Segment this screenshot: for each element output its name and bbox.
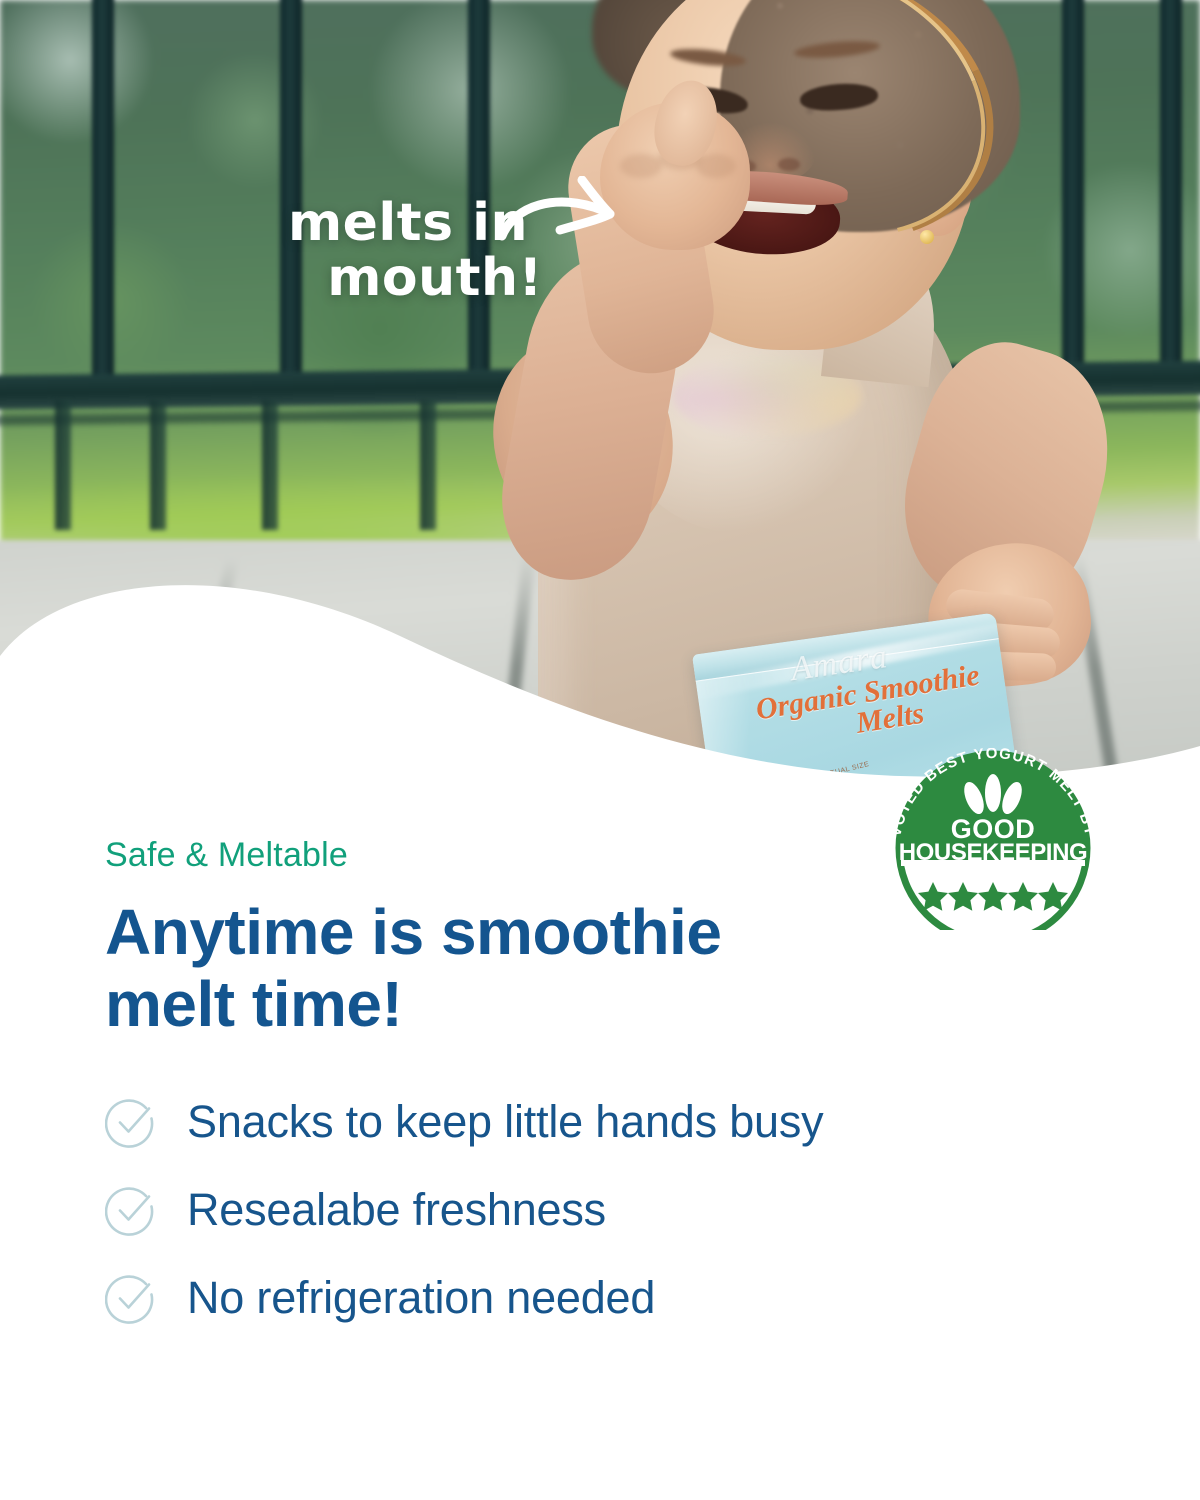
- headline-line-1: Anytime is smoothie: [105, 896, 721, 968]
- hero-photo: Amara Organic Smoothie Melts ACTUAL SIZE…: [0, 0, 1200, 830]
- headline-line-2: melt time!: [105, 969, 935, 1041]
- baby-nostril: [778, 158, 800, 171]
- eyebrow-label: Safe & Meltable: [105, 836, 1200, 875]
- check-circle-icon: [105, 1184, 157, 1236]
- callout-line-1: melts in: [288, 193, 528, 253]
- product-ad-card: Amara Organic Smoothie Melts ACTUAL SIZE…: [0, 0, 1200, 1500]
- callout-line-2: mouth!: [312, 251, 558, 306]
- check-circle-icon: [105, 1272, 157, 1324]
- content-block: Safe & Meltable Anytime is smoothie melt…: [0, 836, 1200, 1360]
- list-item-label: Resealabe freshness: [187, 1184, 606, 1236]
- baby-knuckle: [696, 154, 736, 178]
- page-title: Anytime is smoothie melt time!: [105, 897, 935, 1040]
- background-tree-trunk: [150, 400, 166, 530]
- list-item-label: No refrigeration needed: [187, 1272, 655, 1324]
- fence-baluster: [92, 0, 114, 390]
- background-tree-trunk: [262, 400, 278, 530]
- fence-baluster: [1160, 0, 1182, 390]
- feature-list: Snacks to keep little hands busy Reseala…: [105, 1096, 1200, 1324]
- deck-plank-seam: [152, 557, 239, 830]
- baby-earring: [920, 230, 934, 244]
- background-tree-trunk: [55, 400, 71, 530]
- list-item: Snacks to keep little hands busy: [105, 1096, 1200, 1148]
- curved-arrow-right-icon: [498, 176, 638, 256]
- baby-knuckle: [620, 154, 662, 178]
- list-item-label: Snacks to keep little hands busy: [187, 1096, 823, 1148]
- list-item: No refrigeration needed: [105, 1272, 1200, 1324]
- pouch-actual-size-note: ACTUAL SIZE: [819, 761, 870, 780]
- check-circle-icon: [105, 1096, 157, 1148]
- list-item: Resealabe freshness: [105, 1184, 1200, 1236]
